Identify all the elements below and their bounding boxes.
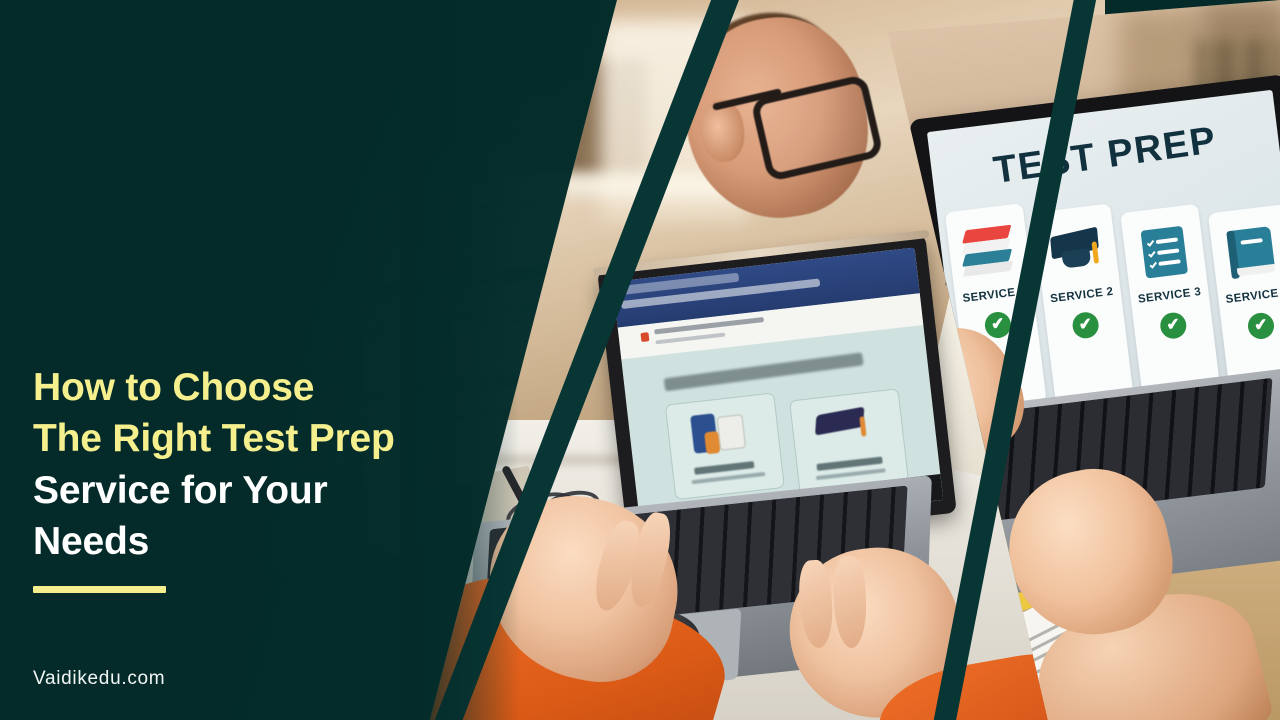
check-circle-icon: ✔: [1159, 311, 1188, 340]
service-card-label: SERVICE 2: [1050, 286, 1114, 306]
headline-line-3: Service for Your: [33, 465, 573, 516]
article-hero-banner: TEST PREP SERVICE 1 ✔ SERVICE 2: [0, 0, 1280, 720]
check-circle-icon: ✔: [1246, 311, 1275, 340]
check-circle-icon: ✔: [1071, 311, 1100, 340]
headline-block: How to Choose The Right Test Prep Servic…: [33, 362, 573, 568]
graduation-cap-icon: [1049, 223, 1105, 281]
service-card-label: SERVICE 3: [1137, 286, 1201, 306]
browser-favicon-icon: [640, 332, 649, 342]
headline-line-2: The Right Test Prep: [33, 413, 573, 464]
brand-watermark: Vaidikedu.com: [33, 668, 165, 690]
book-icon: [1224, 224, 1280, 282]
headline-line-1: How to Choose: [33, 362, 573, 413]
page-icon: [716, 414, 746, 451]
checklist-icon: [1136, 223, 1192, 281]
page-title: How to Choose The Right Test Prep Servic…: [33, 362, 573, 568]
service-card-label: SERVICE 4: [1225, 286, 1280, 306]
headline-line-4: Needs: [33, 516, 573, 567]
accent-underline: [33, 586, 166, 593]
page-heading-blur: [663, 352, 863, 391]
books-stack-icon: [961, 223, 1017, 281]
bookmark-icon: [704, 431, 720, 454]
